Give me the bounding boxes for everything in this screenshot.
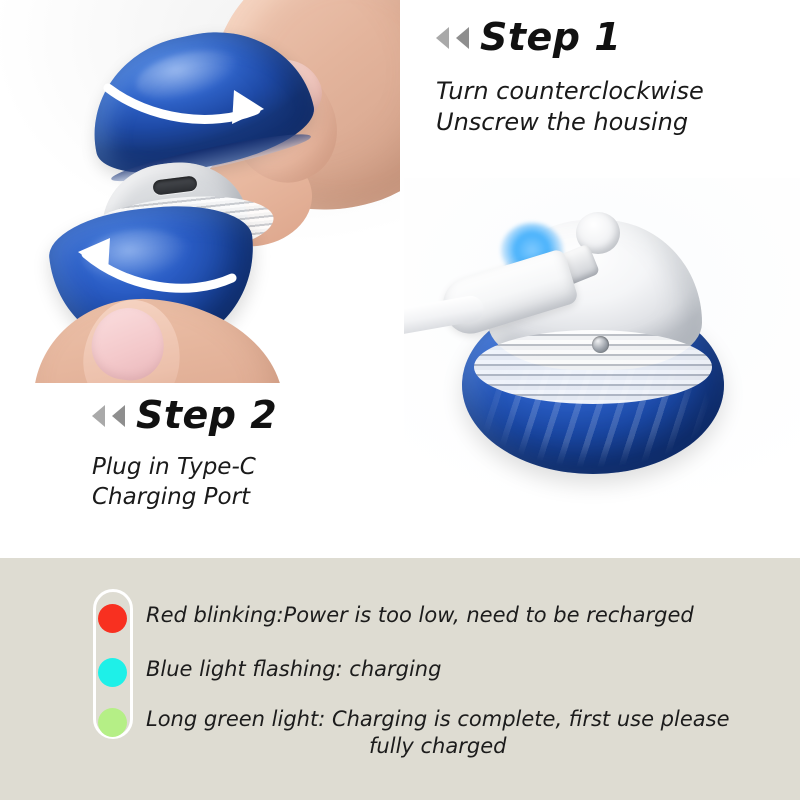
curved-arrow-right-icon [100, 66, 290, 136]
step-2-title: Step 2 [136, 396, 277, 436]
step-2-block: Step 2 Plug in Type-C Charging Port [92, 396, 422, 512]
legend-item-red: Red blinking:Power is too low, need to b… [98, 602, 694, 633]
led-dot-cyan-icon [98, 658, 127, 687]
step-1-description: Turn counterclockwise Unscrew the housin… [436, 76, 786, 139]
photo-unscrew-housing [0, 0, 400, 383]
step-1-title: Step 1 [480, 18, 621, 58]
legend-text-red: Red blinking:Power is too low, need to b… [146, 602, 694, 629]
photo-charging-port [404, 178, 800, 546]
double-left-triangle-icon-outer [436, 27, 449, 49]
led-dot-red-icon [98, 604, 127, 633]
double-left-triangle-icon-inner [112, 405, 125, 427]
dome-screw [592, 336, 609, 353]
step-1-heading: Step 1 [436, 18, 786, 58]
step-2-heading: Step 2 [92, 396, 422, 436]
led-dot-green-icon [98, 708, 127, 737]
step-1-block: Step 1 Turn counterclockwise Unscrew the… [436, 18, 786, 139]
led-status-legend: Red blinking:Power is too low, need to b… [0, 558, 800, 800]
legend-text-green: Long green light: Charging is complete, … [146, 706, 730, 761]
legend-item-blue: Blue light flashing: charging [98, 656, 441, 687]
legend-text-blue: Blue light flashing: charging [146, 656, 441, 683]
double-left-triangle-icon-inner [456, 27, 469, 49]
legend-item-green: Long green light: Charging is complete, … [98, 706, 730, 761]
step-2-description: Plug in Type-C Charging Port [92, 452, 422, 513]
double-left-triangle-icon-outer [92, 405, 105, 427]
product-instruction-page: Step 1 Turn counterclockwise Unscrew the… [0, 0, 800, 800]
curved-arrow-left-icon [60, 232, 240, 296]
